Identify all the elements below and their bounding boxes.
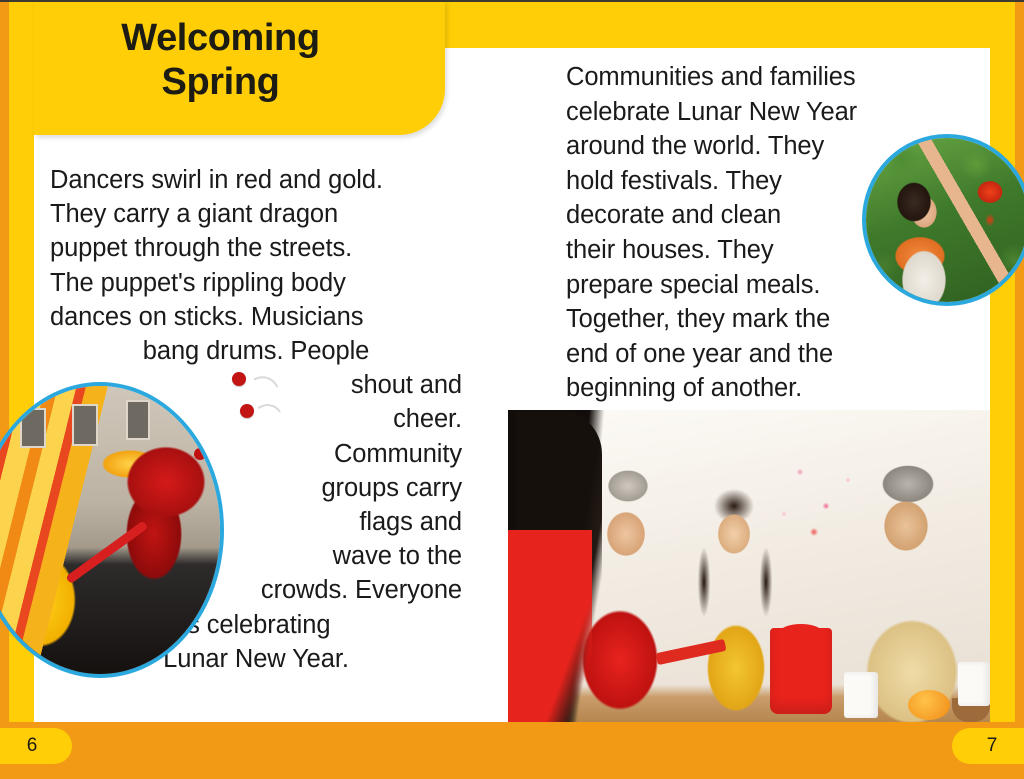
body-line: puppet through the streets. xyxy=(50,231,462,265)
page-title: Welcoming Spring xyxy=(34,16,445,104)
body-line: dances on sticks. Musicians xyxy=(50,300,462,334)
top-edge-line xyxy=(0,0,1024,2)
teacup xyxy=(958,662,990,706)
page-number-right: 7 xyxy=(952,728,1024,764)
building-window xyxy=(20,408,46,448)
body-line: bang drums. People xyxy=(50,334,462,368)
girl-hanging-lantern-photo-image xyxy=(866,138,1024,302)
dragon-whisker-ball-icon xyxy=(188,420,200,432)
dragon-whisker-ball-icon xyxy=(194,448,206,460)
mother-red-dress xyxy=(508,530,592,722)
dragon-parade-photo xyxy=(0,382,224,678)
body-line: Dancers swirl in red and gold. xyxy=(50,163,462,197)
teacup xyxy=(844,672,878,718)
dragon-whisker-ball-icon xyxy=(232,372,246,386)
orange-fruit xyxy=(908,690,950,720)
body-line: Together, they mark the xyxy=(566,302,966,337)
body-line: celebrate Lunar New Year xyxy=(566,95,966,130)
title-banner: Welcoming Spring xyxy=(34,0,445,135)
family-celebration-photo xyxy=(508,410,990,722)
building-window xyxy=(72,404,98,446)
body-line: The puppet's rippling body xyxy=(50,266,462,300)
building-window xyxy=(126,400,150,440)
body-line: end of one year and the xyxy=(566,337,966,372)
red-envelope xyxy=(770,628,832,714)
body-line: Communities and families xyxy=(566,60,966,95)
page-number-left: 6 xyxy=(0,728,72,764)
dragon-whisker-decoration xyxy=(224,370,304,436)
page-title-line-2: Spring xyxy=(34,60,407,104)
body-line: beginning of another. xyxy=(566,371,966,406)
girl-hanging-lantern-photo xyxy=(862,134,1024,306)
page-title-line-1: Welcoming xyxy=(34,16,407,60)
bottom-bar xyxy=(0,722,1024,779)
book-page-spread: Welcoming Spring Dancers swirl in red an… xyxy=(0,0,1024,779)
body-line: They carry a giant dragon xyxy=(50,197,462,231)
